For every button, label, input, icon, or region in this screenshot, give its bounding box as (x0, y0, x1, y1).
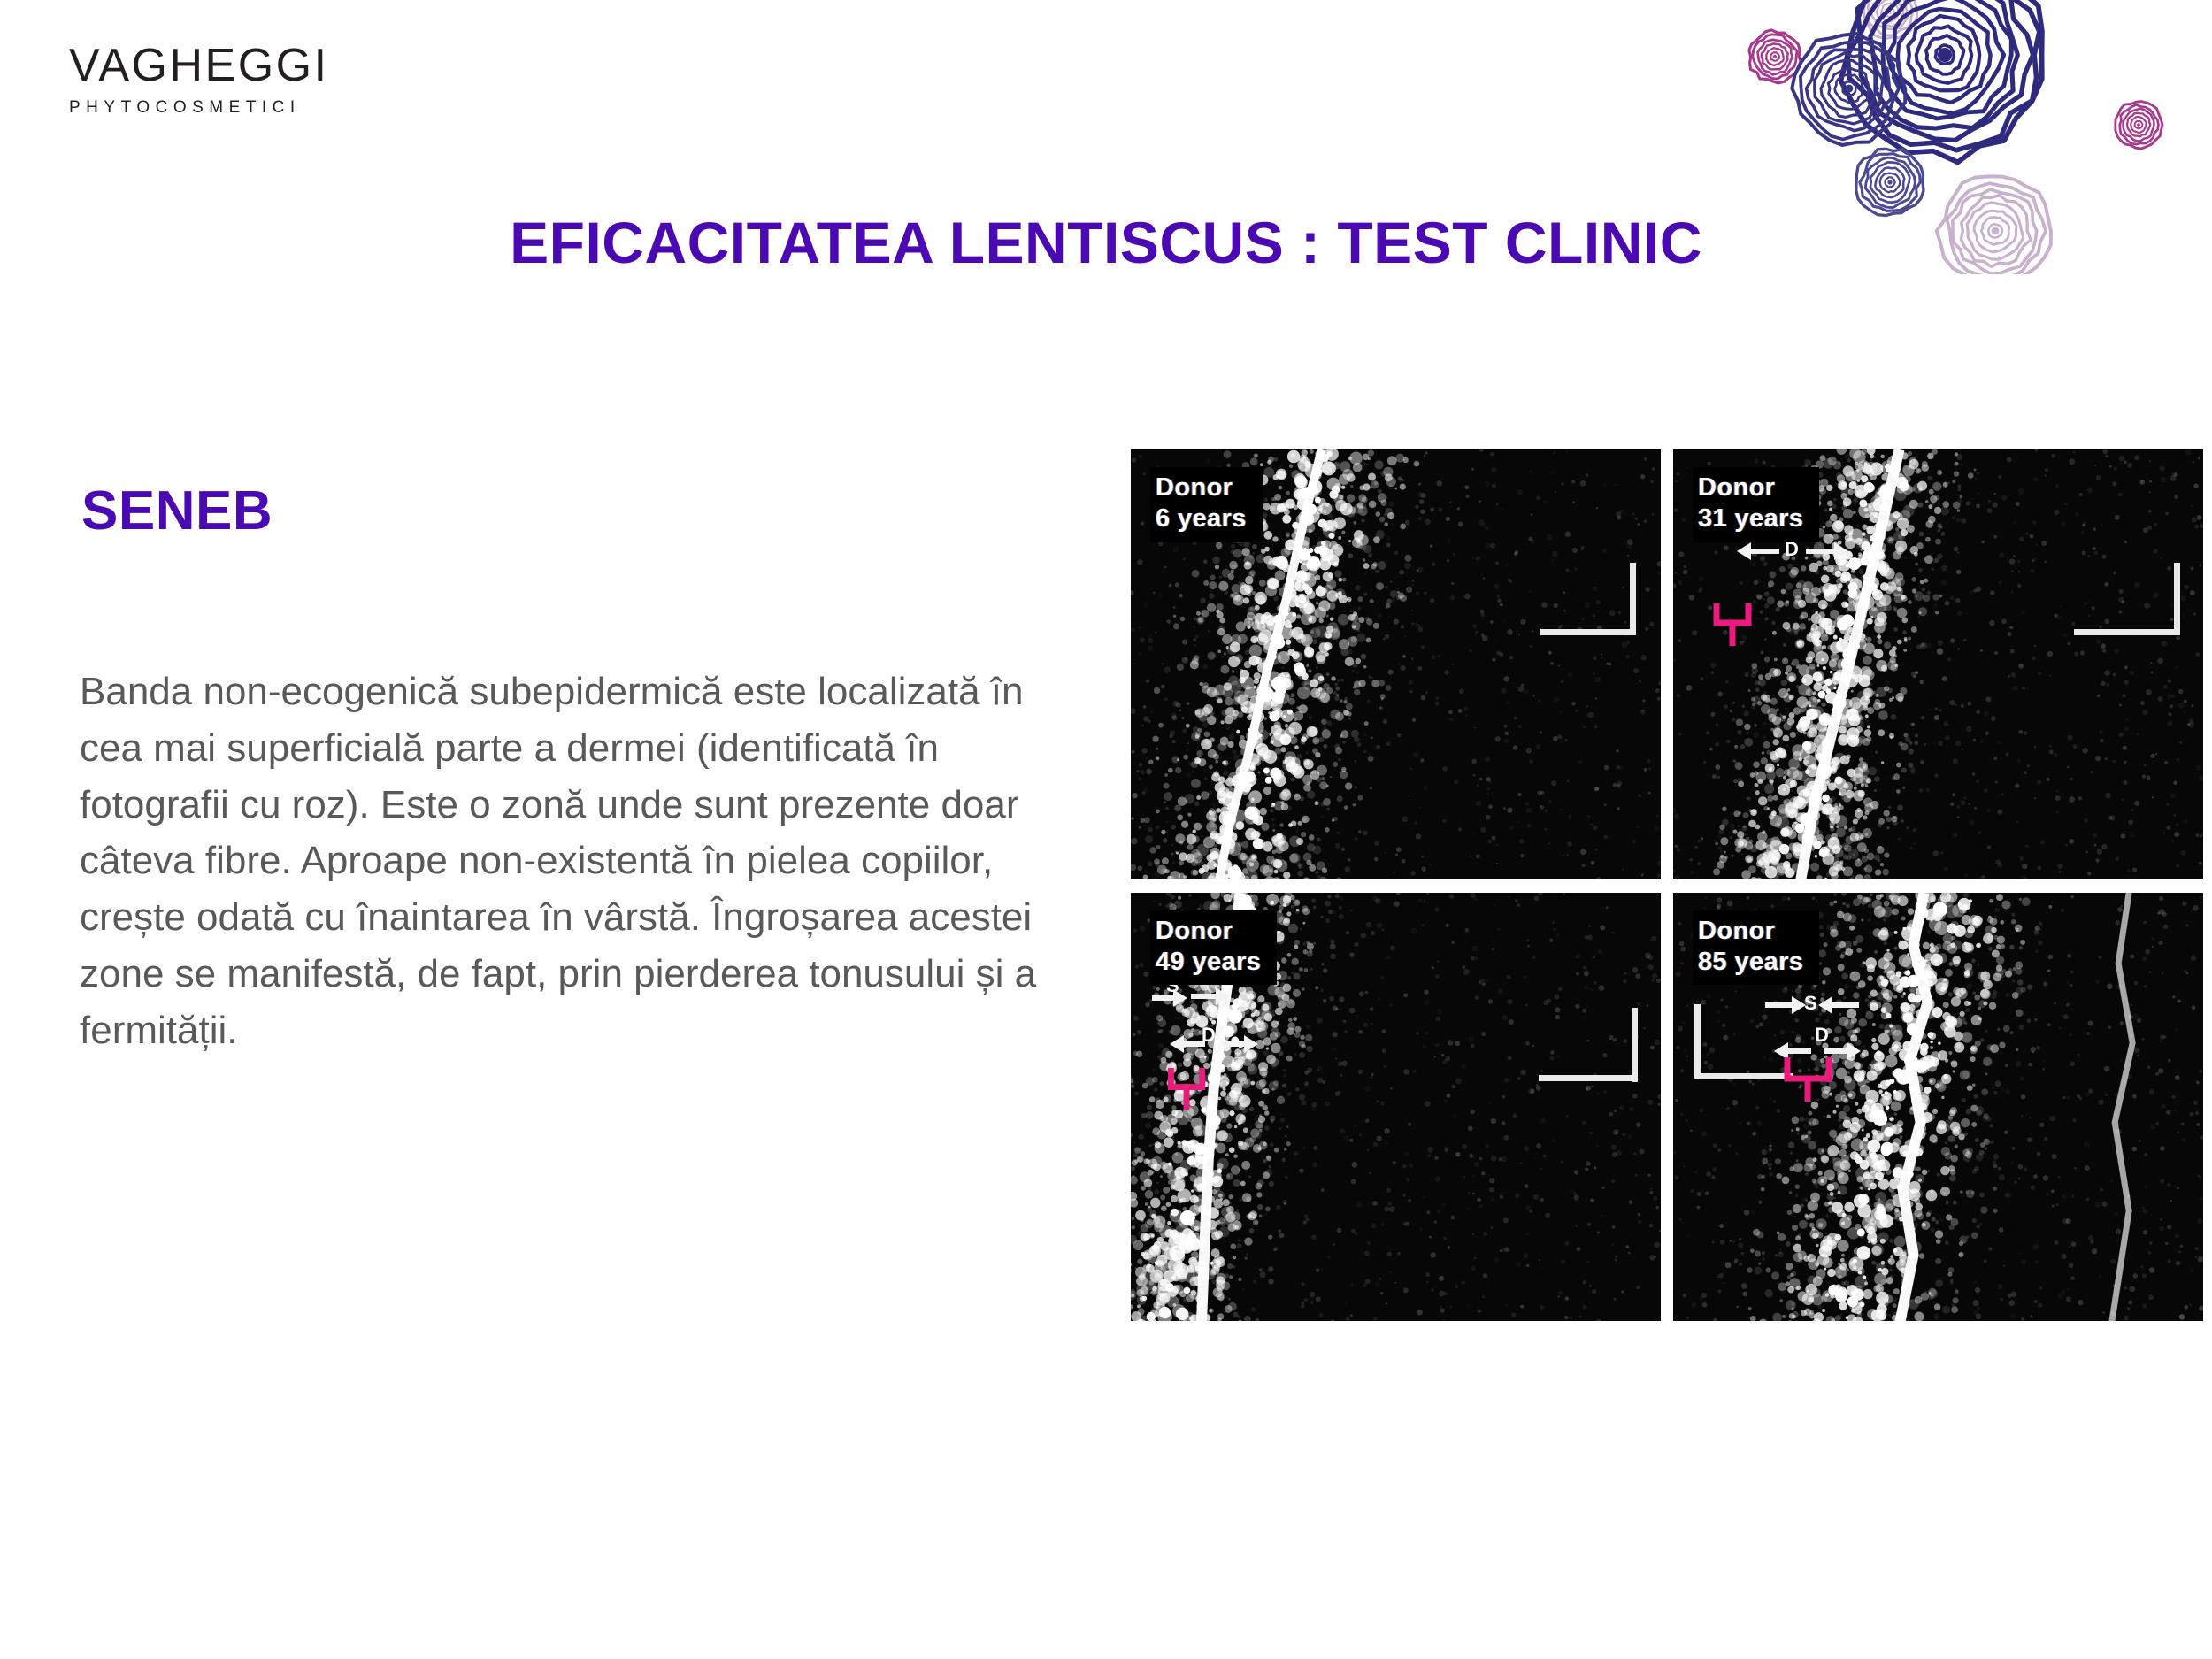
scale-bar-horizontal (1694, 1073, 1793, 1079)
marker-s-label: S (1804, 992, 1817, 1015)
panel-label: Donor 49 years (1150, 910, 1277, 986)
pink-band-bracket (1712, 603, 1753, 646)
scale-bar-horizontal (1540, 629, 1636, 635)
marker-d-arrow-right (1806, 549, 1836, 554)
panel-donor-85[interactable]: Donor 85 years S D (1673, 893, 2203, 1322)
panel-donor-6[interactable]: Donor 6 years (1131, 449, 1661, 879)
marker-s-arrow-left (1765, 1002, 1793, 1008)
panel-label: Donor 6 years (1150, 467, 1263, 542)
marker-d-arrow-left (1749, 549, 1779, 554)
scale-bar-horizontal (2074, 629, 2180, 635)
ultrasound-panel-grid: Donor 6 years Donor 31 years S D (1131, 449, 2203, 1321)
panel-donor-49[interactable]: Donor 49 years S D (1131, 893, 1661, 1322)
body-paragraph: Banda non-ecogenică subepidermică este l… (80, 664, 1079, 1059)
pink-band-bracket (1166, 1068, 1207, 1110)
scale-bar-vertical (2174, 563, 2180, 635)
pink-band-bracket (1783, 1057, 1834, 1102)
marker-d-arrow-left (1786, 1048, 1811, 1054)
slide-title: EFICACITATEA LENTISCUS : TEST CLINIC (0, 209, 2212, 276)
scale-bar-vertical (1694, 1004, 1701, 1079)
panel-label: Donor 85 years (1693, 910, 1819, 986)
slide-root: VAGHEGGI PHYTOCOSMETICI EFICACITATEA LEN… (0, 0, 2212, 1659)
marker-s-arrow-right (1831, 1002, 1859, 1008)
brand-name: VAGHEGGI (69, 42, 329, 88)
marker-d-arrow-right (1223, 1041, 1246, 1047)
marker-s-arrow-2 (1191, 994, 1217, 999)
marker-d-label: D (1815, 1024, 1829, 1047)
marker-d-arrow-right (1824, 1048, 1848, 1054)
marker-d-arrow-left (1182, 1041, 1205, 1047)
brand-logo: VAGHEGGI PHYTOCOSMETICI (69, 42, 329, 116)
brand-tagline: PHYTOCOSMETICI (69, 99, 329, 116)
scale-bar-vertical (1630, 563, 1636, 635)
scale-bar-horizontal (1539, 1075, 1638, 1081)
panel-label: Donor 31 years (1693, 467, 1819, 542)
panel-donor-31[interactable]: Donor 31 years S D (1673, 449, 2203, 879)
section-heading: SENEB (81, 480, 273, 542)
marker-s-arrow (1152, 995, 1175, 1001)
scale-bar-vertical (1632, 1008, 1638, 1082)
